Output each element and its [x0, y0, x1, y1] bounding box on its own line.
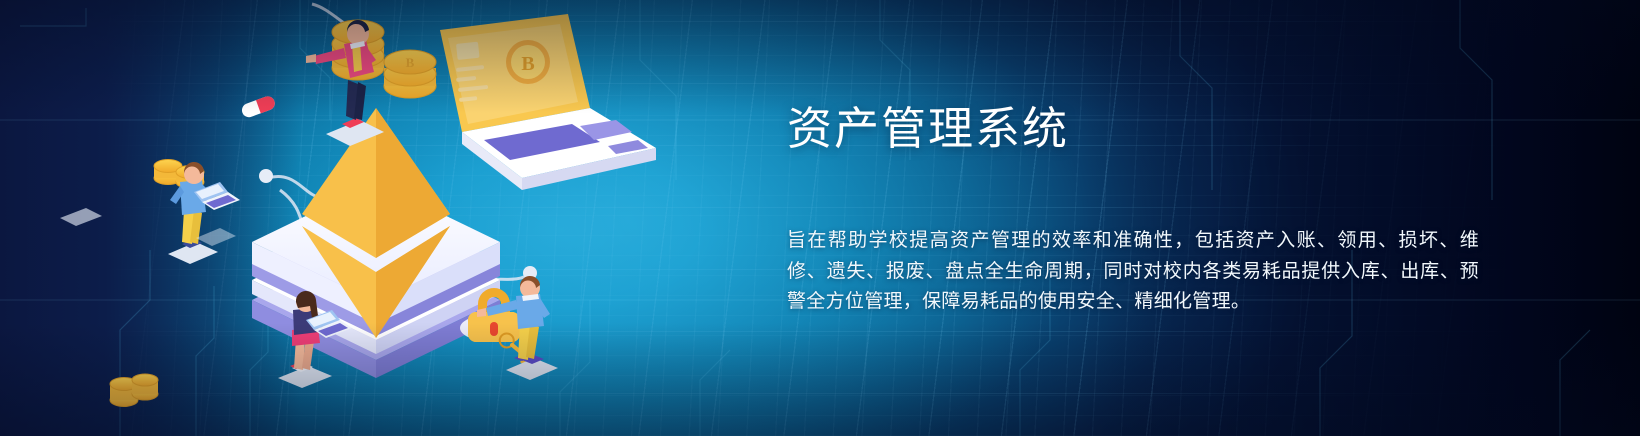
page-description: 旨在帮助学校提高资产管理的效率和准确性，包括资产入账、领用、损坏、维修、遗失、报… [787, 226, 1479, 318]
page-title: 资产管理系统 [787, 101, 1069, 157]
asset-management-banner: B [0, 0, 1640, 436]
banner-text-column: 资产管理系统 旨在帮助学校提高资产管理的效率和准确性，包括资产入账、领用、损坏、… [787, 0, 1487, 436]
